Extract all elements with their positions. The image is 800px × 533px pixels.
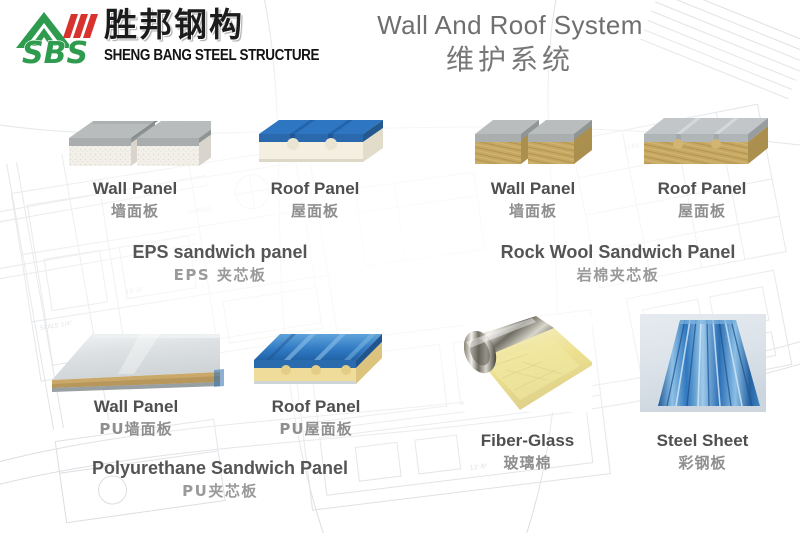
- product-item: Fiber-Glass 玻璃棉: [440, 312, 615, 474]
- product-group-rockwool: Wall Panel 墙面板: [448, 104, 788, 286]
- product-name-cn: 墙面板: [40, 200, 230, 222]
- title-chinese: 维护系统: [300, 42, 720, 78]
- rockwool-roof-panel-image: [632, 110, 772, 178]
- group-title-cn: 岩棉夹芯板: [448, 264, 788, 286]
- eps-wall-panel-image: [59, 108, 211, 178]
- group-title-cn: EPS 夹芯板: [40, 264, 400, 286]
- product-name-cn: PU墙面板: [40, 418, 232, 440]
- page-title: Wall And Roof System 维护系统: [300, 8, 720, 78]
- group-title-cn: PU夹芯板: [40, 480, 400, 502]
- product-name-cn: 墙面板: [449, 200, 617, 222]
- product-item: Roof Panel PU屋面板: [232, 318, 400, 440]
- product-name-cn: 屋面板: [617, 200, 787, 222]
- steel-sheet-image: [636, 312, 770, 416]
- pu-wall-panel-image: [48, 324, 224, 396]
- sbs-logo-mark: SBS: [14, 8, 106, 66]
- group-title-en: Polyurethane Sandwich Panel: [40, 456, 400, 480]
- product-name-en: Wall Panel: [40, 396, 232, 418]
- product-group-materials: Fiber-Glass 玻璃棉: [440, 312, 790, 474]
- product-group-pu: Wall Panel PU墙面板: [40, 318, 400, 502]
- product-name-en: Roof Panel: [230, 178, 400, 200]
- product-item: Steel Sheet 彩钢板: [615, 312, 790, 474]
- eps-roof-panel-image: [245, 112, 385, 178]
- product-name-en: Wall Panel: [40, 178, 230, 200]
- rockwool-wall-panel-image: [469, 108, 597, 178]
- group-title-en: Rock Wool Sandwich Panel: [448, 240, 788, 264]
- product-name-cn: PU屋面板: [232, 418, 400, 440]
- product-name-en: Roof Panel: [232, 396, 400, 418]
- product-name-cn: 彩钢板: [615, 452, 790, 474]
- logo-chinese-name: 胜邦钢构: [104, 8, 244, 42]
- logo-english-name: SHENG BANG STEEL STRUCTURE: [104, 46, 319, 64]
- product-name-en: Wall Panel: [449, 178, 617, 200]
- product-item: Roof Panel 屋面板: [617, 104, 787, 222]
- product-item: Wall Panel 墙面板: [449, 104, 617, 222]
- title-english: Wall And Roof System: [300, 8, 720, 42]
- pu-roof-panel-image: [246, 326, 386, 396]
- product-name-en: Steel Sheet: [615, 430, 790, 452]
- company-logo: SBS 胜邦钢构 SHENG BANG STEEL STRUCTURE: [14, 6, 286, 70]
- product-item: Wall Panel 墙面板: [40, 104, 230, 222]
- product-name-cn: 屋面板: [230, 200, 400, 222]
- product-item: Wall Panel PU墙面板: [40, 318, 232, 440]
- product-group-eps: Wall Panel 墙面板: [40, 104, 400, 286]
- product-item: Roof Panel 屋面板: [230, 104, 400, 222]
- svg-text:SBS: SBS: [22, 36, 88, 66]
- fiber-glass-roll-image: [458, 312, 598, 416]
- group-title-en: EPS sandwich panel: [40, 240, 400, 264]
- product-name-cn: 玻璃棉: [440, 452, 615, 474]
- product-name-en: Roof Panel: [617, 178, 787, 200]
- product-name-en: Fiber-Glass: [440, 430, 615, 452]
